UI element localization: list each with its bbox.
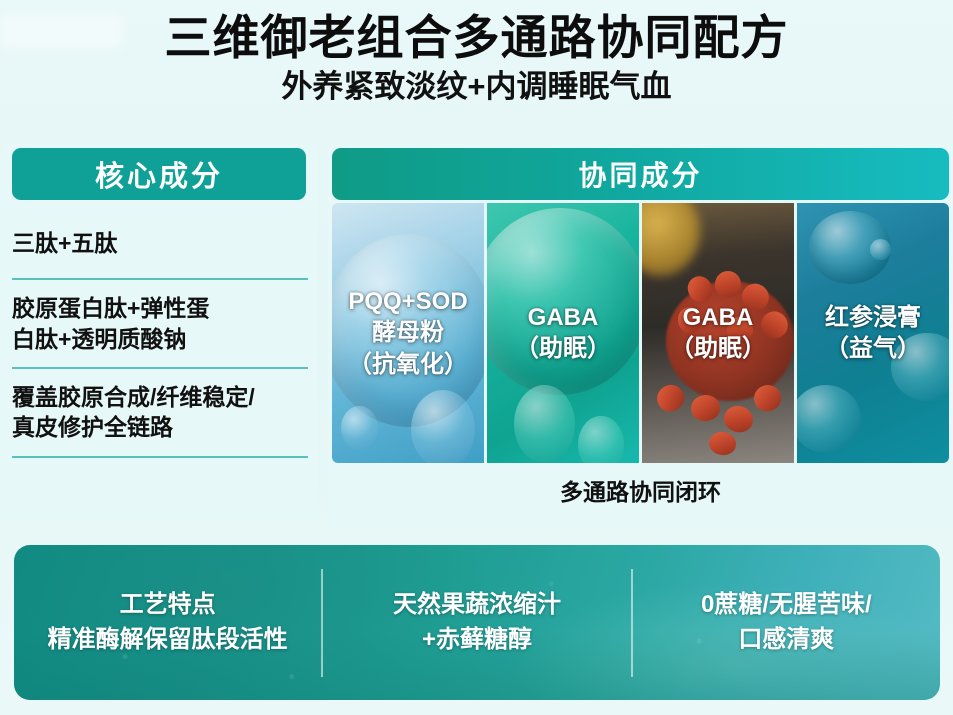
bubble-shape xyxy=(578,416,624,463)
core-ingredients-header-label: 核心成分 xyxy=(95,153,223,195)
page-title-block: 三维御老组合多通路协同配方 外养紧致淡纹+内调睡眠气血 xyxy=(0,10,953,106)
page-title: 三维御老组合多通路协同配方 xyxy=(0,10,953,65)
core-ingredients-panel: 核心成分 三肽+五肽 胶原蛋白肽+弹性蛋 白肽+透明质酸钠 覆盖胶原合成/纤维稳… xyxy=(0,144,318,524)
list-divider xyxy=(12,278,308,280)
bubble-shape xyxy=(341,406,377,450)
process-features-banner: 工艺特点 精准酶解保留肽段活性 天然果蔬浓缩汁 +赤藓糖醇 0蔗糖/无腥苦味/ … xyxy=(14,545,940,700)
synergy-card-label: GABA （助眠） xyxy=(515,302,611,364)
synergy-card-row: PQQ+SOD 酵母粉 （抗氧化） GABA （助眠） xyxy=(332,203,949,463)
banner-column-juice: 天然果蔬浓缩汁 +赤藓糖醇 xyxy=(323,588,630,656)
list-divider xyxy=(12,456,308,458)
synergy-ingredients-panel: 协同成分 PQQ+SOD 酵母粉 （抗氧化） GABA （助眠） xyxy=(328,144,953,530)
core-ingredients-list: 三肽+五肽 胶原蛋白肽+弹性蛋 白肽+透明质酸钠 覆盖胶原合成/纤维稳定/ 真皮… xyxy=(0,206,318,458)
synergy-card-red-ginseng[interactable]: 红参浸膏 （益气） xyxy=(797,203,949,463)
content-middle-section: 核心成分 三肽+五肽 胶原蛋白肽+弹性蛋 白肽+透明质酸钠 覆盖胶原合成/纤维稳… xyxy=(0,144,953,534)
synergy-ingredients-header-label: 协同成分 xyxy=(578,154,702,194)
bubble-shape xyxy=(514,385,575,463)
bubble-shape xyxy=(797,385,861,453)
synergy-card-label: 红参浸膏 （益气） xyxy=(825,302,921,364)
list-item: 三肽+五肽 xyxy=(0,206,318,278)
bubble-shape xyxy=(411,390,475,463)
banner-column-taste: 0蔗糖/无腥苦味/ 口感清爽 xyxy=(633,588,940,656)
synergy-card-label: PQQ+SOD 酵母粉 （抗氧化） xyxy=(348,286,468,380)
core-ingredients-header: 核心成分 xyxy=(12,148,306,200)
page-subtitle: 外养紧致淡纹+内调睡眠气血 xyxy=(0,68,953,105)
banner-column-process: 工艺特点 精准酶解保留肽段活性 xyxy=(14,588,321,656)
synergy-card-pqq-sod[interactable]: PQQ+SOD 酵母粉 （抗氧化） xyxy=(332,203,484,463)
list-item: 胶原蛋白肽+弹性蛋 白肽+透明质酸钠 xyxy=(0,280,318,367)
synergy-card-label: GABA （助眠） xyxy=(670,302,766,364)
list-item: 覆盖胶原合成/纤维稳定/ 真皮修护全链路 xyxy=(0,369,318,456)
synergy-card-gaba-2[interactable]: GABA （助眠） xyxy=(642,203,794,463)
synergy-ingredients-header: 协同成分 xyxy=(332,148,949,200)
synergy-caption: 多通路协同闭环 xyxy=(332,473,949,507)
list-divider xyxy=(12,367,308,369)
synergy-card-gaba-1[interactable]: GABA （助眠） xyxy=(487,203,639,463)
